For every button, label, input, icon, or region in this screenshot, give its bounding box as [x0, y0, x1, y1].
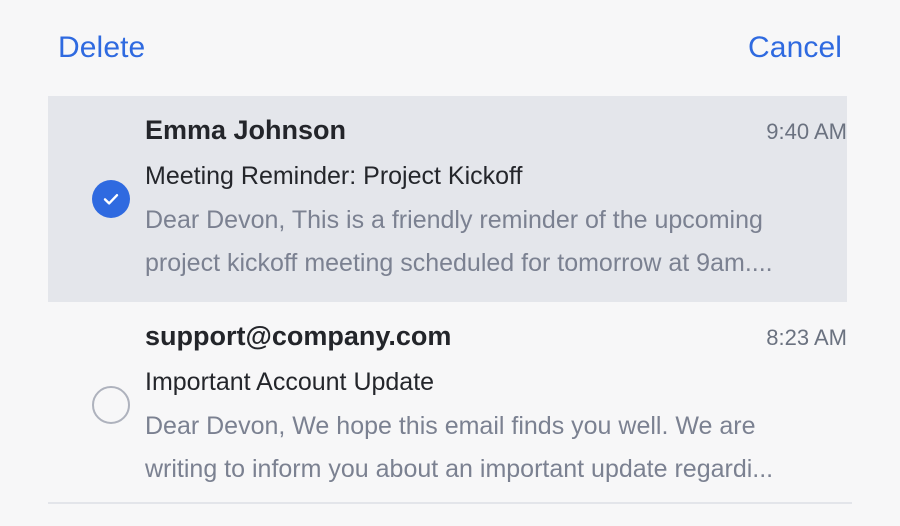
email-content: support@company.com 8:23 AM Important Ac…: [145, 319, 847, 492]
email-sender: Emma Johnson: [145, 113, 346, 148]
email-header-line: Emma Johnson 9:40 AM: [145, 113, 847, 148]
email-preview: Dear Devon, We hope this email finds you…: [145, 405, 817, 491]
delete-button[interactable]: Delete: [58, 33, 145, 63]
email-list-item[interactable]: support@company.com 8:23 AM Important Ac…: [0, 302, 900, 508]
email-list: Emma Johnson 9:40 AM Meeting Reminder: P…: [0, 96, 900, 508]
email-preview: Dear Devon, This is a friendly reminder …: [145, 199, 817, 285]
email-content: Emma Johnson 9:40 AM Meeting Reminder: P…: [145, 113, 847, 286]
cancel-button[interactable]: Cancel: [748, 33, 842, 63]
checkbox-cell: [48, 386, 145, 424]
check-icon: [101, 189, 121, 209]
email-subject: Important Account Update: [145, 366, 847, 400]
email-select-checkbox-unchecked[interactable]: [92, 386, 130, 424]
email-timestamp: 8:23 AM: [766, 324, 847, 353]
email-list-item[interactable]: Emma Johnson 9:40 AM Meeting Reminder: P…: [0, 96, 900, 302]
email-selection-screen: Delete Cancel Em: [0, 0, 900, 526]
action-bar: Delete Cancel: [0, 0, 900, 96]
email-select-checkbox-checked[interactable]: [92, 180, 130, 218]
email-sender: support@company.com: [145, 319, 451, 354]
email-subject: Meeting Reminder: Project Kickoff: [145, 160, 847, 194]
checkbox-cell: [48, 180, 145, 218]
email-timestamp: 9:40 AM: [766, 118, 847, 147]
email-header-line: support@company.com 8:23 AM: [145, 319, 847, 354]
